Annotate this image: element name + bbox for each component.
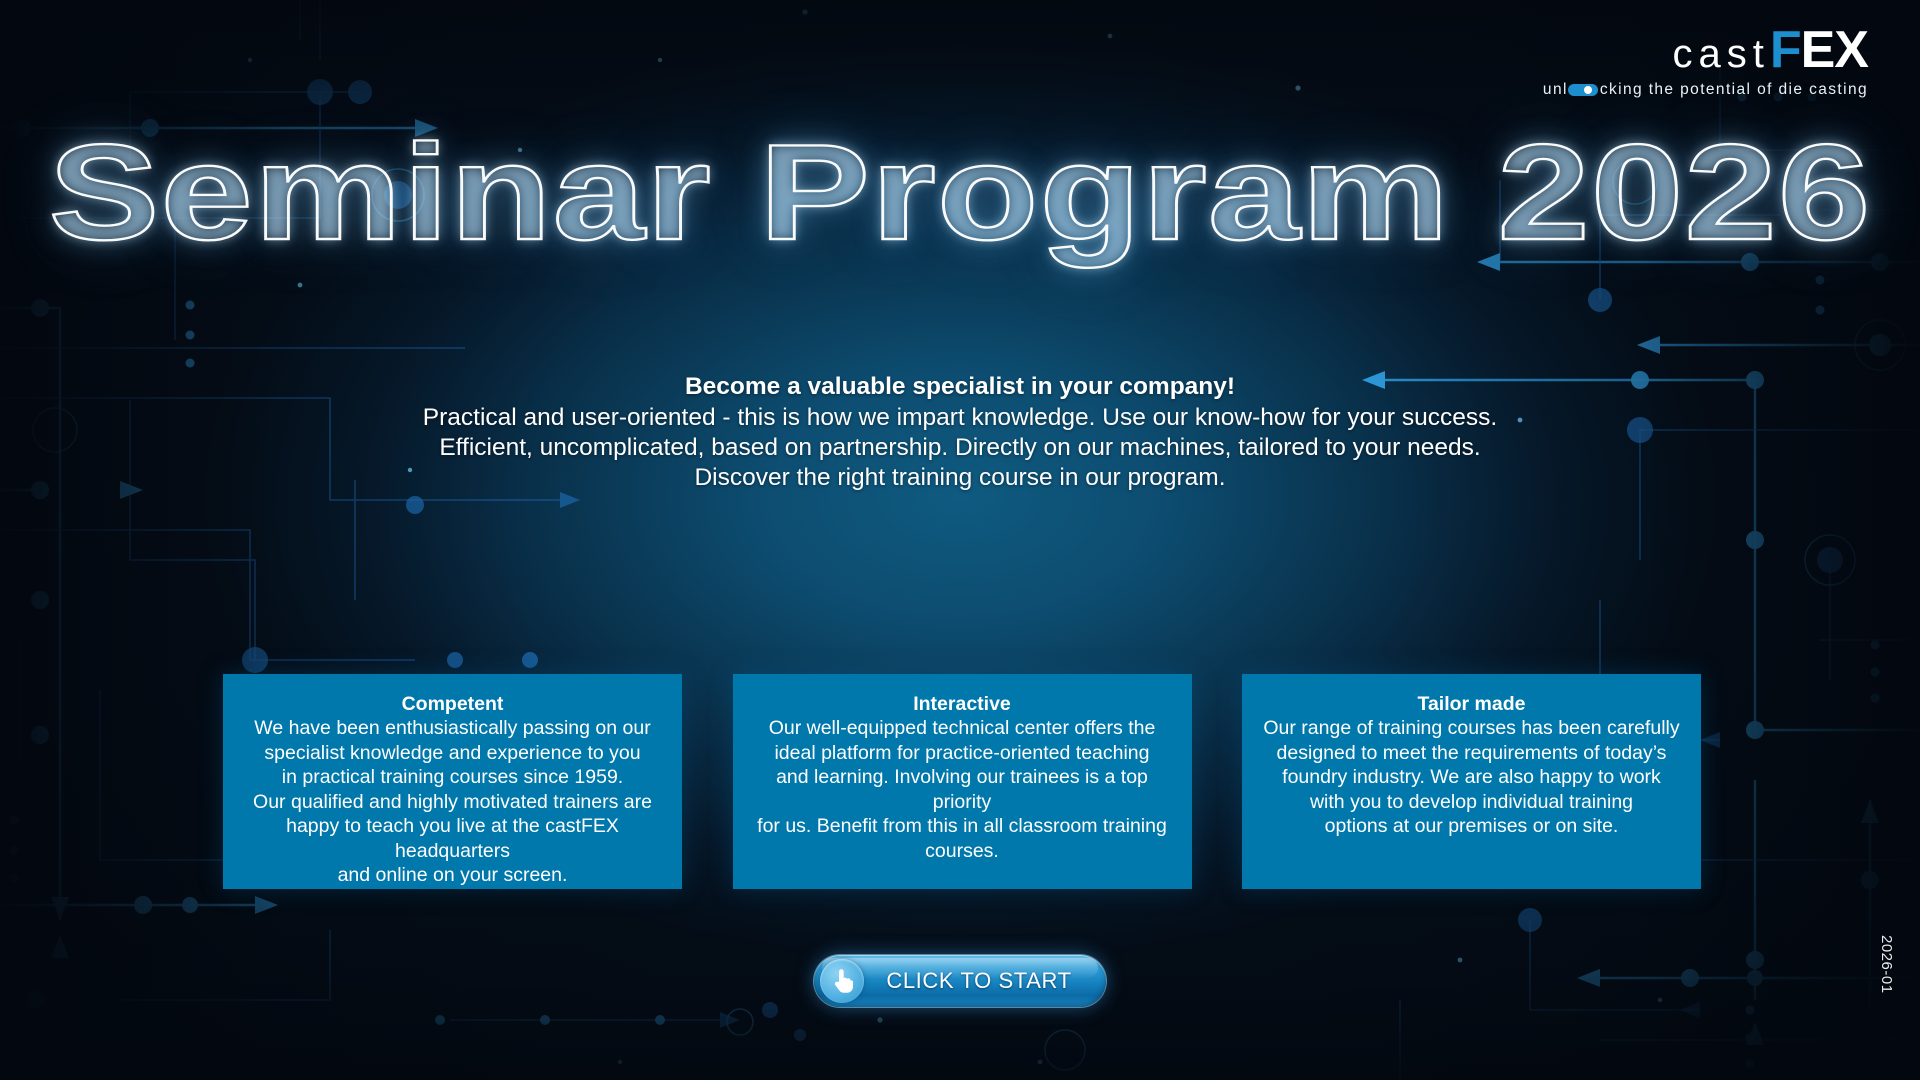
subtitle-lead: Become a valuable specialist in your com… [0, 372, 1920, 402]
card-line: with you to develop individual training [1256, 790, 1687, 815]
card-line: ideal platform for practice-oriented tea… [747, 741, 1178, 766]
card-line: We have been enthusiastically passing on… [237, 716, 668, 741]
logo-ex-text: EX [1801, 21, 1868, 79]
card-line: options at our premises or on site. [1256, 814, 1687, 839]
card-line: happy to teach you live at the castFEX h… [237, 814, 668, 863]
subtitle-line-3: Discover the right training course in ou… [0, 463, 1920, 493]
tagline-o-glyph-icon [1568, 84, 1600, 96]
castfex-logo: castFEX unlcking the potential of die ca… [1543, 24, 1868, 98]
pointing-hand-icon [820, 959, 864, 1003]
card-line: foundry industry. We are also happy to w… [1256, 765, 1687, 790]
card-body-interactive: Our well-equipped technical center offer… [747, 716, 1178, 863]
feature-cards: Competent We have been enthusiastically … [223, 674, 1701, 889]
card-line: Our qualified and highly motivated train… [237, 790, 668, 815]
logo-cast-text: cast [1673, 32, 1770, 76]
card-title-interactive: Interactive [747, 692, 1178, 716]
card-title-tailor-made: Tailor made [1256, 692, 1687, 716]
subtitle-line-1: Practical and user-oriented - this is ho… [0, 403, 1920, 433]
card-line: and learning. Involving our trainees is … [747, 765, 1178, 814]
hero-subtitle: Become a valuable specialist in your com… [0, 372, 1920, 493]
card-line: in practical training courses since 1959… [237, 765, 668, 790]
card-line: and online on your screen. [237, 863, 668, 888]
card-line: specialist knowledge and experience to y… [237, 741, 668, 766]
subtitle-line-2: Efficient, uncomplicated, based on partn… [0, 433, 1920, 463]
card-title-competent: Competent [237, 692, 668, 716]
card-line: for us. Benefit from this in all classro… [747, 814, 1178, 863]
cta-label: CLICK TO START [886, 968, 1071, 994]
card-body-competent: We have been enthusiastically passing on… [237, 716, 668, 888]
card-line: Our range of training courses has been c… [1256, 716, 1687, 741]
feature-card-tailor-made: Tailor made Our range of training course… [1242, 674, 1701, 889]
card-line: Our well-equipped technical center offer… [747, 716, 1178, 741]
click-to-start-button[interactable]: CLICK TO START [814, 955, 1105, 1007]
logo-tagline: unlcking the potential of die casting [1543, 82, 1868, 98]
cta-container: CLICK TO START [0, 955, 1920, 1007]
card-body-tailor-made: Our range of training courses has been c… [1256, 716, 1687, 839]
card-line: designed to meet the requirements of tod… [1256, 741, 1687, 766]
presentation-stage: castFEX unlcking the potential of die ca… [0, 0, 1920, 1080]
logo-f-letter: F [1770, 21, 1801, 79]
tagline-before-text: unl [1543, 81, 1568, 98]
tagline-after-text: cking the potential of die casting [1600, 81, 1868, 98]
hero-title-container: Seminar Program 2026 [0, 116, 1920, 268]
page-title: Seminar Program 2026 [49, 116, 1872, 268]
feature-card-interactive: Interactive Our well-equipped technical … [733, 674, 1192, 889]
version-tag: 2026-01 [1878, 935, 1895, 994]
feature-card-competent: Competent We have been enthusiastically … [223, 674, 682, 889]
logo-wordmark: castFEX [1543, 24, 1868, 76]
